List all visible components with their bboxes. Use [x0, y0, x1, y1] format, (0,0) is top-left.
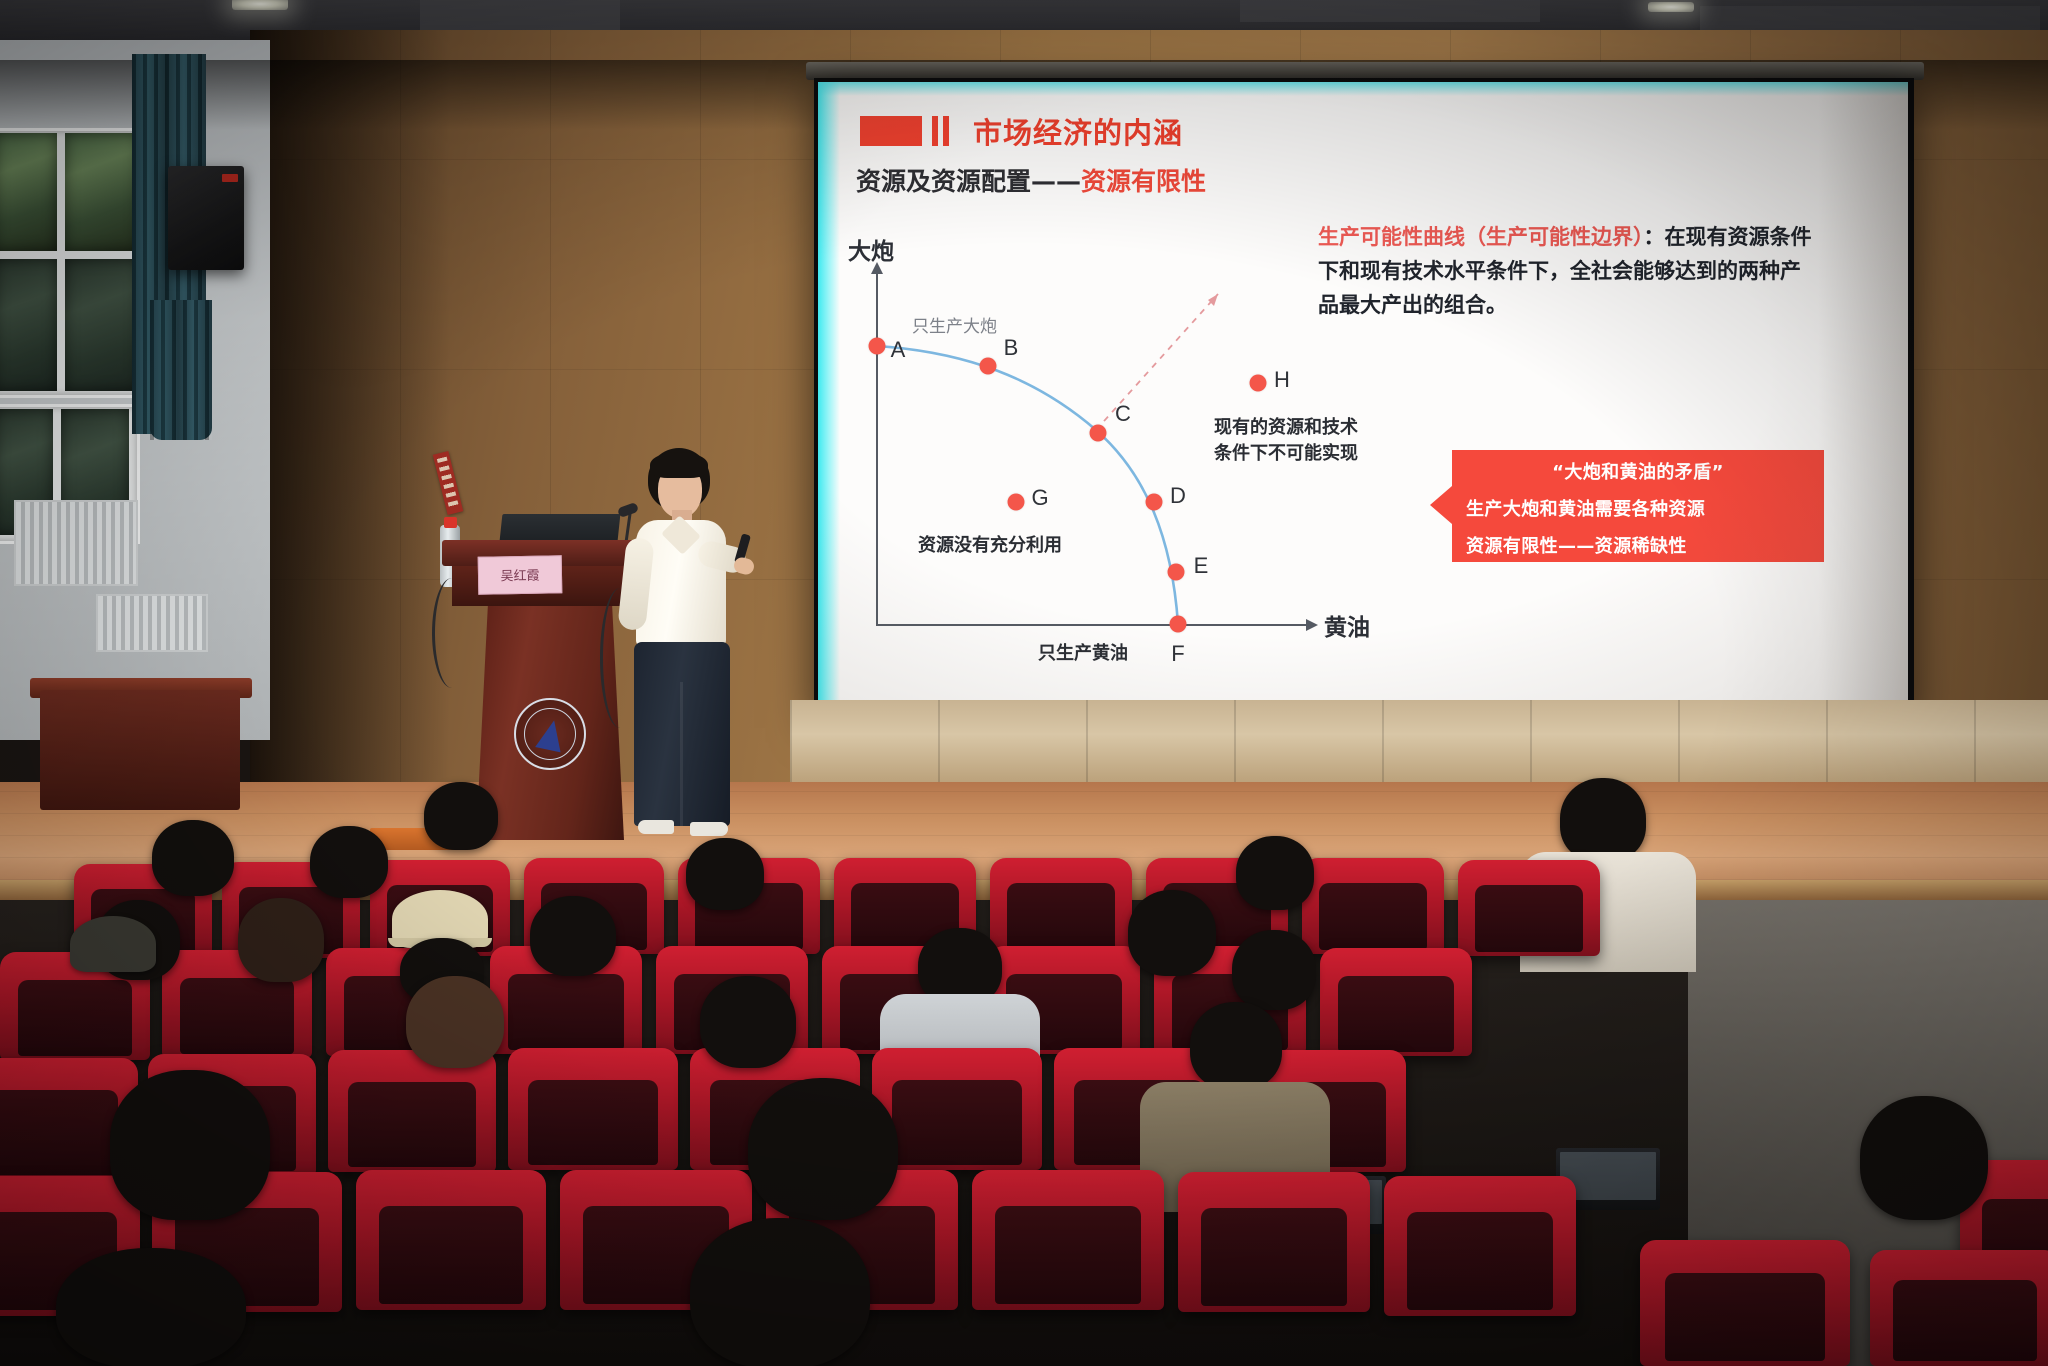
- audience-head: [1236, 836, 1314, 910]
- presenter-trousers: [634, 642, 730, 826]
- note-unattainable-line2: 条件下不可能实现: [1214, 442, 1358, 466]
- radiator-lower: [96, 594, 208, 652]
- audience-head: [1128, 890, 1216, 976]
- presenter-shoe-left: [638, 820, 674, 834]
- callout-line-2: 生产大炮和黄油需要各种资源: [1466, 496, 1824, 524]
- point-C-dot: [1090, 425, 1107, 442]
- nameplate-text: 吴红霞: [479, 564, 561, 584]
- note-only-butter: 只生产黄油: [1038, 642, 1128, 666]
- seat: [1178, 1172, 1370, 1312]
- audience-head: [686, 838, 764, 910]
- presenter: [612, 448, 742, 838]
- point-A-dot: [869, 338, 886, 355]
- point-A-label: A: [891, 337, 906, 363]
- ceiling-light: [232, 0, 288, 10]
- projection-screen: 市场经济的内涵 资源及资源配置——资源有限性 生产可能性曲线（生产可能性边界）：…: [818, 82, 1908, 712]
- seat: [1302, 858, 1444, 954]
- curtain-tieback: [150, 300, 212, 440]
- slide-content: 市场经济的内涵 资源及资源配置——资源有限性 生产可能性曲线（生产可能性边界）：…: [818, 82, 1908, 712]
- seat: [508, 1048, 678, 1170]
- window-pane: [0, 259, 57, 391]
- seat: [1458, 860, 1600, 956]
- seat: [1870, 1250, 2048, 1366]
- window-pane: [0, 133, 57, 251]
- audience-head: [1560, 778, 1646, 862]
- radiator: [14, 500, 138, 586]
- university-emblem-icon: [514, 698, 586, 770]
- point-B-dot: [980, 358, 997, 375]
- callout-line-1: “大炮和黄油的矛盾”: [1452, 459, 1824, 487]
- callout-box: “大炮和黄油的矛盾” 生产大炮和黄油需要各种资源 资源有限性——资源稀缺性: [1452, 450, 1824, 562]
- point-C-label: C: [1115, 401, 1131, 427]
- note-only-cannons: 只生产大炮: [912, 316, 997, 339]
- title-accent-bars: [932, 116, 949, 146]
- audience-head: [406, 976, 504, 1068]
- audience-head: [700, 976, 796, 1068]
- point-H-dot: [1250, 375, 1267, 392]
- point-E-label: E: [1194, 553, 1209, 579]
- seat: [328, 1050, 496, 1172]
- slide-subtitle: 资源及资源配置——资源有限性: [856, 162, 1206, 198]
- point-G-label: G: [1031, 485, 1048, 511]
- point-E-dot: [1168, 564, 1185, 581]
- loudspeaker: [168, 166, 244, 270]
- seat: [1640, 1240, 1850, 1366]
- callout-arrow: [1430, 486, 1452, 524]
- wall-shadow: [250, 30, 450, 790]
- side-table: [40, 690, 240, 810]
- note-underutilized: 资源没有充分利用: [918, 534, 1062, 558]
- point-F-dot: [1170, 616, 1187, 633]
- audience-head: [1190, 1002, 1282, 1090]
- title-accent-block: [860, 116, 922, 146]
- note-unattainable-line1: 现有的资源和技术: [1214, 416, 1358, 440]
- ppf-chart: 大炮 黄油 A B C D E F: [846, 250, 1486, 680]
- audience-head: [238, 898, 324, 982]
- callout-line-3: 资源有限性——资源稀缺性: [1466, 533, 1824, 561]
- ceiling-panel: [420, 0, 620, 30]
- speaker-badge: [222, 174, 238, 182]
- point-D-dot: [1146, 494, 1163, 511]
- window-pane: [65, 259, 139, 391]
- lecture-hall-scene: 市场经济的内涵 资源及资源配置——资源有限性 生产可能性曲线（生产可能性边界）：…: [0, 0, 2048, 1366]
- bottle-cap: [444, 517, 457, 528]
- audience-head: [530, 896, 616, 976]
- slide-subtitle-accent: 资源有限性: [1081, 167, 1206, 196]
- ppf-curve-svg: [846, 250, 1486, 680]
- seat: [990, 858, 1132, 954]
- audience-head: [152, 820, 234, 896]
- ppf-curve: [877, 346, 1178, 624]
- presenter-shoe-right: [690, 822, 728, 836]
- nameplate: 吴红霞: [478, 555, 563, 594]
- audience-head: [110, 1070, 270, 1220]
- audience-head: [1860, 1096, 1988, 1220]
- seat: [1320, 948, 1472, 1056]
- slide-subtitle-prefix: 资源及资源配置——: [856, 167, 1081, 196]
- slide-title: 市场经济的内涵: [973, 110, 1183, 152]
- seat: [356, 1170, 546, 1310]
- cable: [432, 578, 472, 688]
- window-upper: [0, 128, 150, 398]
- window-pane: [65, 133, 139, 251]
- seat: [1384, 1176, 1576, 1316]
- point-G-dot: [1008, 494, 1025, 511]
- ceiling-panel: [1240, 0, 1540, 22]
- stage-back-panel: [790, 700, 2048, 786]
- point-F-label: F: [1171, 641, 1184, 667]
- point-H-label: H: [1274, 367, 1290, 393]
- presenter-hair-front: [650, 452, 708, 478]
- ceiling-light: [1648, 2, 1694, 12]
- slide-title-row: 市场经济的内涵: [860, 110, 1183, 152]
- audience-head: [1232, 930, 1316, 1010]
- point-B-label: B: [1004, 335, 1019, 361]
- definition-highlight: 生产可能性曲线（生产可能性边界）: [1318, 225, 1644, 249]
- audience-head: [424, 782, 498, 850]
- screen-shadow-right: [1818, 82, 1908, 712]
- audience-cap: [70, 916, 156, 972]
- seat: [972, 1170, 1164, 1310]
- audience-head: [690, 1218, 870, 1366]
- audience-head: [748, 1078, 898, 1220]
- audience-head: [56, 1248, 246, 1366]
- point-D-label: D: [1170, 483, 1186, 509]
- audience-head: [310, 826, 388, 898]
